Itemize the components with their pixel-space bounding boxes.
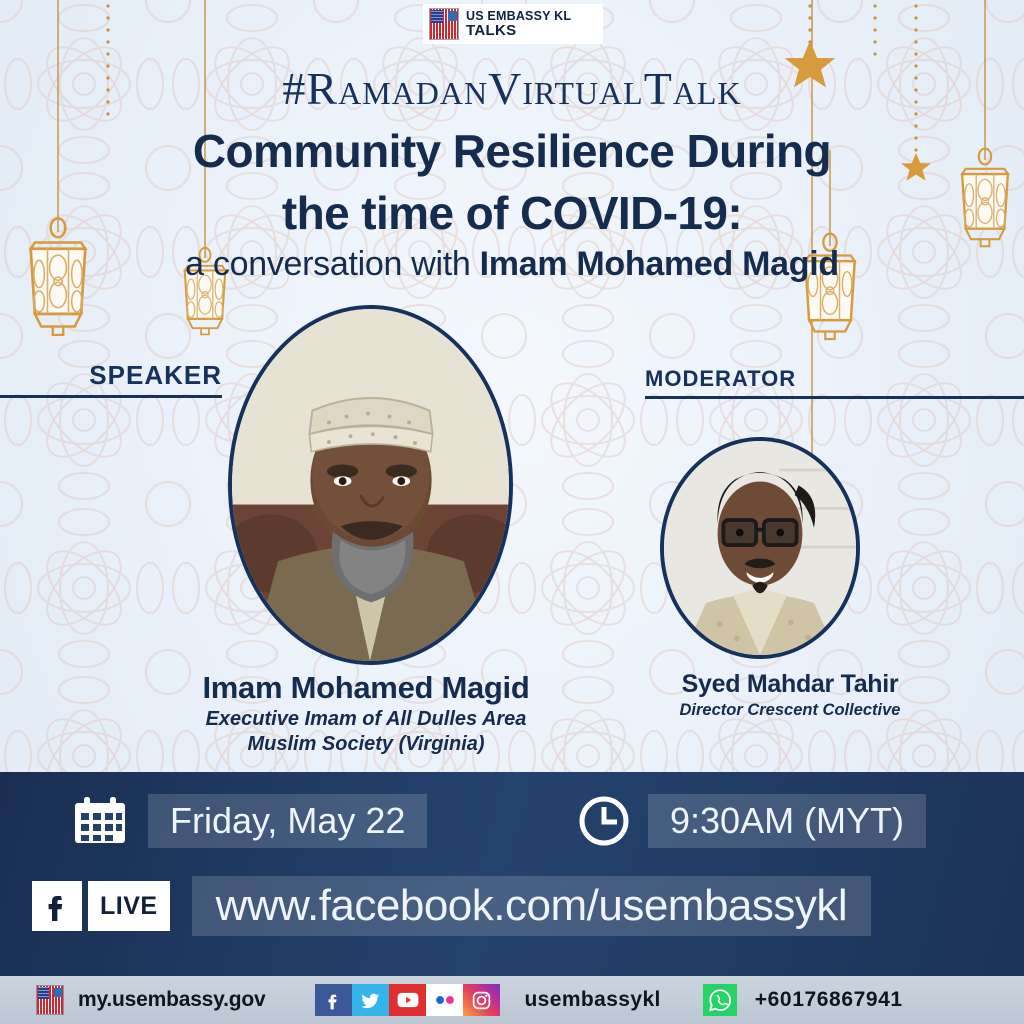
bead-string-right-2	[873, 4, 876, 55]
moderator-name-block: Syed Mahdar Tahir Director Crescent Coll…	[625, 670, 955, 720]
title-line-1: Community Resilience During	[0, 124, 1024, 178]
moderator-section-label: MODERATOR	[645, 366, 1024, 399]
subtitle-light: a conversation with	[185, 245, 480, 283]
speaker-label: SPEAKER	[0, 360, 222, 391]
speaker-role-line1: Executive Imam of All Dulles Area	[150, 708, 582, 731]
social-handle[interactable]: usembassykl	[524, 988, 660, 1012]
calendar-icon	[72, 795, 128, 847]
moderator-photo	[660, 437, 860, 659]
logo-line1: US EMBASSY KL	[466, 10, 571, 23]
facebook-icon[interactable]	[315, 984, 352, 1016]
live-badge-text: LIVE	[88, 881, 170, 931]
whatsapp-icon[interactable]	[703, 984, 737, 1016]
twitter-icon[interactable]	[352, 984, 389, 1016]
speaker-photo	[228, 305, 513, 665]
speaker-role-line2: Muslim Society (Virginia)	[150, 733, 582, 756]
event-details-footer: Friday, May 22 9:30AM (MYT) LIVE www.fac…	[0, 772, 1024, 976]
facebook-url[interactable]: www.facebook.com/usembassykl	[192, 876, 872, 936]
speaker-section-label: SPEAKER	[0, 360, 222, 398]
website-text[interactable]: my.usembassy.gov	[78, 988, 265, 1012]
poster-canvas: US EMBASSY KL TALKS	[0, 0, 1024, 1024]
moderator-divider	[645, 396, 1024, 399]
us-flag-seal-icon	[36, 985, 64, 1015]
title-line-2: the time of COVID-19:	[0, 186, 1024, 240]
facebook-live-badge: LIVE	[32, 881, 170, 931]
flickr-icon[interactable]	[426, 984, 463, 1016]
subtitle: a conversation with Imam Mohamed Magid	[0, 245, 1024, 284]
bead-string-right-1	[808, 4, 811, 43]
hashtag-title: #RamadanVirtualTalk	[0, 62, 1024, 115]
youtube-icon[interactable]	[389, 984, 426, 1016]
us-embassy-kl-logo: US EMBASSY KL TALKS	[423, 4, 603, 44]
date-row: Friday, May 22	[72, 794, 427, 848]
facebook-live-row: LIVE www.facebook.com/usembassykl	[32, 876, 871, 936]
moderator-name: Syed Mahdar Tahir	[625, 670, 955, 699]
moderator-label: MODERATOR	[645, 366, 1024, 392]
social-icons	[315, 984, 500, 1016]
whatsapp-number[interactable]: +60176867941	[755, 988, 903, 1012]
logo-line2: TALKS	[466, 23, 571, 38]
speaker-name: Imam Mohamed Magid	[150, 670, 582, 706]
event-date: Friday, May 22	[148, 794, 427, 848]
contact-bar: my.usembassy.gov	[0, 976, 1024, 1024]
event-time: 9:30AM (MYT)	[648, 794, 926, 848]
us-flag-seal-icon	[429, 8, 459, 40]
time-row: 9:30AM (MYT)	[578, 794, 926, 848]
clock-icon	[578, 795, 630, 847]
moderator-role-line1: Director Crescent Collective	[625, 701, 955, 720]
subtitle-strong: Imam Mohamed Magid	[480, 245, 839, 283]
speaker-name-block: Imam Mohamed Magid Executive Imam of All…	[150, 670, 582, 756]
speaker-divider	[0, 395, 222, 398]
facebook-icon	[32, 881, 82, 931]
instagram-icon[interactable]	[463, 984, 500, 1016]
